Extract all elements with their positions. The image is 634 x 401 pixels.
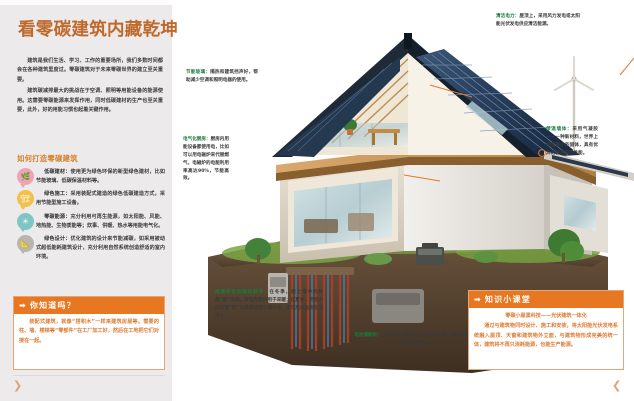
callout-clean-power: 清洁电力：屋顶上，采用风力发电或太阳能光伏发电供应清洁能源。 [496, 13, 580, 29]
knowledge-class-subtitle: 零碳小屋黑科技——光伏建筑一体化 [474, 312, 618, 321]
page-turn-right-icon[interactable]: ❯ [612, 380, 621, 391]
callout-geothermal-key: 地源热泵供暖和制冷： [215, 290, 269, 295]
callout-battery-storage: 电池储能柜：当清洁电力富余时把电能存下来，阴雨天和风力不足时放电。 [352, 332, 476, 348]
divider [13, 375, 165, 376]
howto-list: 🌿 低碳建材：使用更为绿色环保的新型绿色建材，比如节能玻璃、低碳保温材料等。 🏗… [17, 167, 165, 265]
did-you-know-body: 装配式建筑，就像“搭积木”一样来建筑房屋等。需要的柱、墙、楼梯等“零部件”在工厂… [14, 314, 164, 350]
callout-battery-key: 电池储能柜： [354, 333, 382, 338]
howto-item-text: 绿色设计：优化建筑的设计来节能减碳，如采用被动式超低能耗建筑设计，充分利用自然系… [36, 234, 165, 262]
blueprint-icon: 📐 [17, 235, 34, 252]
crane-icon: 🏗 [17, 190, 34, 207]
leaf-glyph: 🌿 [17, 168, 34, 185]
leaf-icon: 🌿 [17, 168, 34, 185]
knowledge-class-title: 知识小课堂 [485, 294, 531, 305]
intro-text: 建筑是我们生活、学习、工作的重要场所，我们多数时间都会在各种建筑里度过。零碳建筑… [17, 57, 163, 118]
intro-paragraph-2: 建筑碳减排最大的挑战在于空调、照明等用能设备的能源使用。这需要零碳能源来发挥作用… [17, 87, 163, 115]
arrow-right-icon: ➡ [19, 302, 27, 310]
knowledge-class-header: ➡ 知识小课堂 [469, 291, 623, 308]
did-you-know-title: 你知道吗？ [30, 300, 76, 311]
crane-glyph: 🏗 [17, 190, 34, 207]
callout-battery-text: 当清洁电力富余时把电能存下来，阴雨天和风力不足时放电。 [382, 333, 474, 346]
did-you-know-text: 装配式建筑，就像“搭积木”一样来建筑房屋等。需要的柱、墙、楼梯等“零部件”在工厂… [19, 318, 159, 346]
callout-insulated-wall: 保温墙体：采用气凝胶——一种新材料，世界上密度最小的固体，具有优异的保温隔热性能… [546, 126, 598, 158]
page-title: 看零碳建筑内藏乾坤 [18, 22, 178, 40]
callout-power-key: 清洁电力： [496, 14, 519, 19]
callout-kitchen-text: 厨房内用能设备都使用电，比如可以用电磁炉来代替燃气，电磁炉的电能利用率高达90%… [183, 137, 229, 181]
did-you-know-card: ➡ 你知道吗？ 装配式建筑，就像“搭积木”一样来建筑房屋等。需要的柱、墙、楼梯等… [13, 296, 165, 370]
sun-glyph: ☀ [17, 213, 34, 230]
knowledge-class-text: 通过与建筑物同时设计、施工和安装，将太阳能光伏发电系统融入屋顶、天窗和建筑物外立… [474, 322, 618, 350]
blueprint-glyph: 📐 [17, 235, 34, 252]
howto-item-text: 低碳建材：使用更为绿色环保的新型绿色建材，比如节能玻璃、低碳保温材料等。 [36, 167, 165, 186]
did-you-know-header: ➡ 你知道吗？ [14, 297, 164, 314]
howto-item-text: 绿色施工：采用装配式建造的绿色低碳建造方式，采用节能型施工设备。 [36, 189, 165, 208]
list-item: ☀ 零碳能源：充分利用可再生能源，如太阳能、风能、地热能、生物质能等；炊事、供暖… [17, 212, 165, 231]
intro-paragraph-1: 建筑是我们生活、学习、工作的重要场所，我们多数时间都会在各种建筑里度过。零碳建筑… [17, 57, 163, 85]
callout-electrified-kitchen: 电气化厨房：厨房内用能设备都使用电，比如可以用电磁炉来代替燃气，电磁炉的电能利用… [183, 136, 229, 183]
arrow-right-icon: ➡ [474, 296, 482, 304]
sun-icon: ☀ [17, 213, 34, 230]
list-item: 🌿 低碳建材：使用更为绿色环保的新型绿色建材，比如节能玻璃、低碳保温材料等。 [17, 167, 165, 186]
callout-geothermal-heat-pump: 地源热泵供暖和制冷：在冬季，把土壤中的热量“取”出来，转化为室内用于采暖；在夏季… [215, 289, 323, 321]
callout-glass-key: 节能玻璃： [186, 70, 210, 75]
knowledge-class-body: 零碳小屋黑科技——光伏建筑一体化 通过与建筑物同时设计、施工和安装，将太阳能光伏… [469, 308, 623, 355]
callout-wall-key: 保温墙体： [546, 127, 572, 132]
knowledge-class-card: ➡ 知识小课堂 零碳小屋黑科技——光伏建筑一体化 通过与建筑物同时设计、施工和安… [468, 290, 624, 370]
callout-kitchen-key: 电气化厨房： [183, 137, 211, 142]
infographic-page: 节能玻璃：隔热和建筑挡声好，帮助减少空调和照明电器的使用。 电气化厨房：厨房内用… [0, 0, 634, 401]
howto-heading: 如何打造零碳建筑 [17, 153, 78, 164]
list-item: 📐 绿色设计：优化建筑的设计来节能减碳，如采用被动式超低能耗建筑设计，充分利用自… [17, 234, 165, 262]
callout-energy-saving-glass: 节能玻璃：隔热和建筑挡声好，帮助减少空调和照明电器的使用。 [186, 69, 258, 85]
howto-item-text: 零碳能源：充分利用可再生能源，如太阳能、风能、地热能、生物质能等；炊事、供暖、热… [36, 212, 165, 231]
list-item: 🏗 绿色施工：采用装配式建造的绿色低碳建造方式，采用节能型施工设备。 [17, 189, 165, 208]
page-turn-left-icon[interactable]: ❯ [13, 380, 22, 391]
